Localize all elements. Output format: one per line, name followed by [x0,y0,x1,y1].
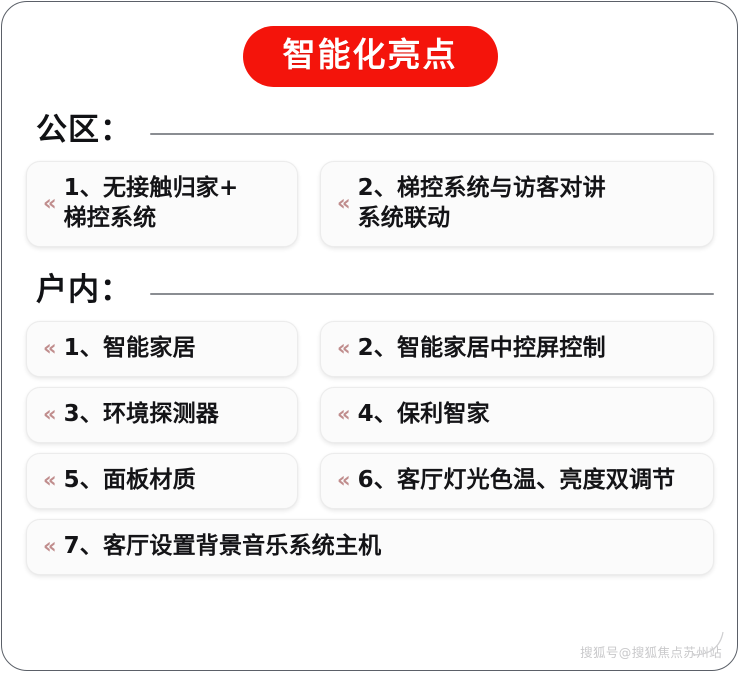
double-chevron-left-icon: « [43,404,54,425]
page-root: 智能化亮点 公区： « 1、无接触归家+ 梯控系统 « 2、梯控系统与访客对讲 … [0,0,740,673]
section-title-indoor: 户内： [36,273,132,307]
section-header-indoor: 户内： [22,273,718,307]
section-divider-public-area [150,133,714,135]
double-chevron-left-icon: « [43,536,54,557]
card-indoor-1[interactable]: « 1、智能家居 [26,321,298,377]
card-indoor-4[interactable]: « 4、保利智家 [320,387,714,443]
card-label: 6、客厅灯光色温、亮度双调节 [358,466,676,495]
card-label: 2、梯控系统与访客对讲 系统联动 [358,174,606,234]
card-indoor-6[interactable]: « 6、客厅灯光色温、亮度双调节 [320,453,714,509]
double-chevron-left-icon: « [43,193,54,214]
section-title-public-area: 公区： [36,113,132,147]
card-label: 5、面板材质 [64,466,196,495]
card-label: 1、无接触归家+ 梯控系统 [64,174,239,234]
title-row: 智能化亮点 [22,0,718,87]
watermark: 搜狐号@搜狐焦点苏州站 [580,642,722,661]
card-label: 2、智能家居中控屏控制 [358,334,606,363]
card-label: 3、环境探测器 [64,400,219,429]
card-indoor-7[interactable]: « 7、客厅设置背景音乐系统主机 [26,519,714,575]
double-chevron-left-icon: « [337,470,348,491]
double-chevron-left-icon: « [337,404,348,425]
card-row: « 7、客厅设置背景音乐系统主机 [26,519,714,575]
card-public-1[interactable]: « 1、无接触归家+ 梯控系统 [26,161,298,247]
double-chevron-left-icon: « [337,193,348,214]
watermark-text: 搜狐号@搜狐焦点苏州站 [580,645,722,660]
page-content: 智能化亮点 公区： « 1、无接触归家+ 梯控系统 « 2、梯控系统与访客对讲 … [0,0,740,673]
section-divider-indoor [150,293,714,295]
card-grid-public-area: « 1、无接触归家+ 梯控系统 « 2、梯控系统与访客对讲 系统联动 [22,161,718,247]
section-header-public-area: 公区： [22,113,718,147]
card-public-2[interactable]: « 2、梯控系统与访客对讲 系统联动 [320,161,714,247]
card-indoor-5[interactable]: « 5、面板材质 [26,453,298,509]
double-chevron-left-icon: « [337,338,348,359]
card-grid-indoor: « 1、智能家居 « 2、智能家居中控屏控制 « 3、环境探测器 « 4、保利智… [22,321,718,575]
card-label: 1、智能家居 [64,334,196,363]
card-label: 4、保利智家 [358,400,490,429]
card-indoor-3[interactable]: « 3、环境探测器 [26,387,298,443]
card-indoor-2[interactable]: « 2、智能家居中控屏控制 [320,321,714,377]
page-title-pill: 智能化亮点 [243,26,498,87]
double-chevron-left-icon: « [43,338,54,359]
card-row: « 5、面板材质 « 6、客厅灯光色温、亮度双调节 [26,453,714,509]
card-row: « 3、环境探测器 « 4、保利智家 [26,387,714,443]
card-row: « 1、智能家居 « 2、智能家居中控屏控制 [26,321,714,377]
card-label: 7、客厅设置背景音乐系统主机 [64,532,382,561]
double-chevron-left-icon: « [43,470,54,491]
card-row: « 1、无接触归家+ 梯控系统 « 2、梯控系统与访客对讲 系统联动 [26,161,714,247]
